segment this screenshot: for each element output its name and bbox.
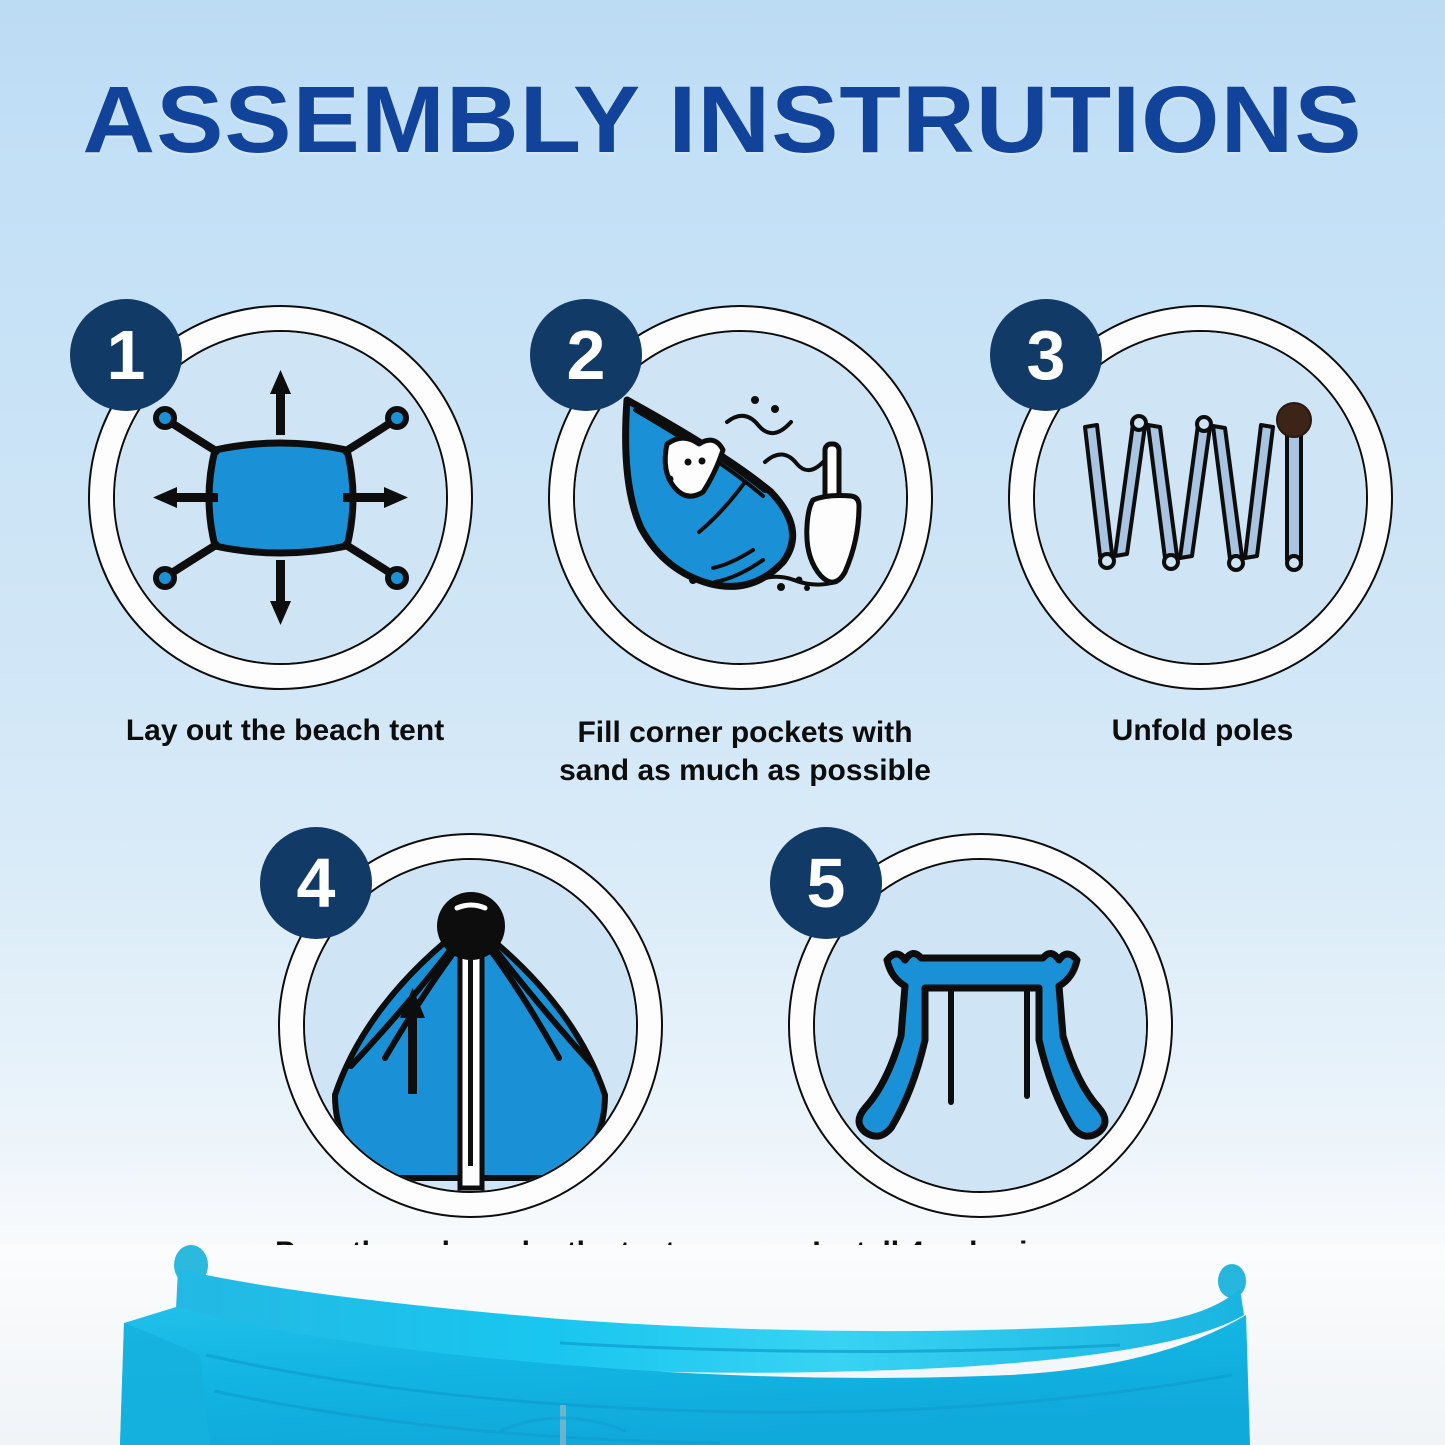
step-3-badge: 3 bbox=[990, 299, 1102, 411]
step-2-ring-wrap: 2 bbox=[548, 305, 933, 690]
step-1: 1 bbox=[88, 305, 473, 690]
step-1-caption: Lay out the beach tent bbox=[25, 712, 545, 750]
step-5-badge: 5 bbox=[770, 827, 882, 939]
step-1-badge: 1 bbox=[70, 299, 182, 411]
beach-sun-shelter-canopy-photo bbox=[0, 1245, 1445, 1445]
step-2-caption: Fill corner pockets with sand as much as… bbox=[490, 714, 1000, 791]
step-1-ring-wrap: 1 bbox=[88, 305, 473, 690]
step-2-badge: 2 bbox=[530, 299, 642, 411]
step-4: 4 bbox=[278, 833, 663, 1218]
step-5: 5 bbox=[788, 833, 1173, 1218]
step-4-ring-wrap: 4 bbox=[278, 833, 663, 1218]
step-5-ring-wrap: 5 bbox=[788, 833, 1173, 1218]
step-2: 2 bbox=[548, 305, 933, 690]
page-title: ASSEMBLY INSTRUTIONS bbox=[0, 66, 1445, 175]
step-4-badge: 4 bbox=[260, 827, 372, 939]
step-3-caption: Unfold poles bbox=[955, 712, 1445, 750]
step-3: 3 bbox=[1008, 305, 1393, 690]
step-3-ring-wrap: 3 bbox=[1008, 305, 1393, 690]
infographic-stage: ASSEMBLY INSTRUTIONS bbox=[0, 0, 1445, 1445]
